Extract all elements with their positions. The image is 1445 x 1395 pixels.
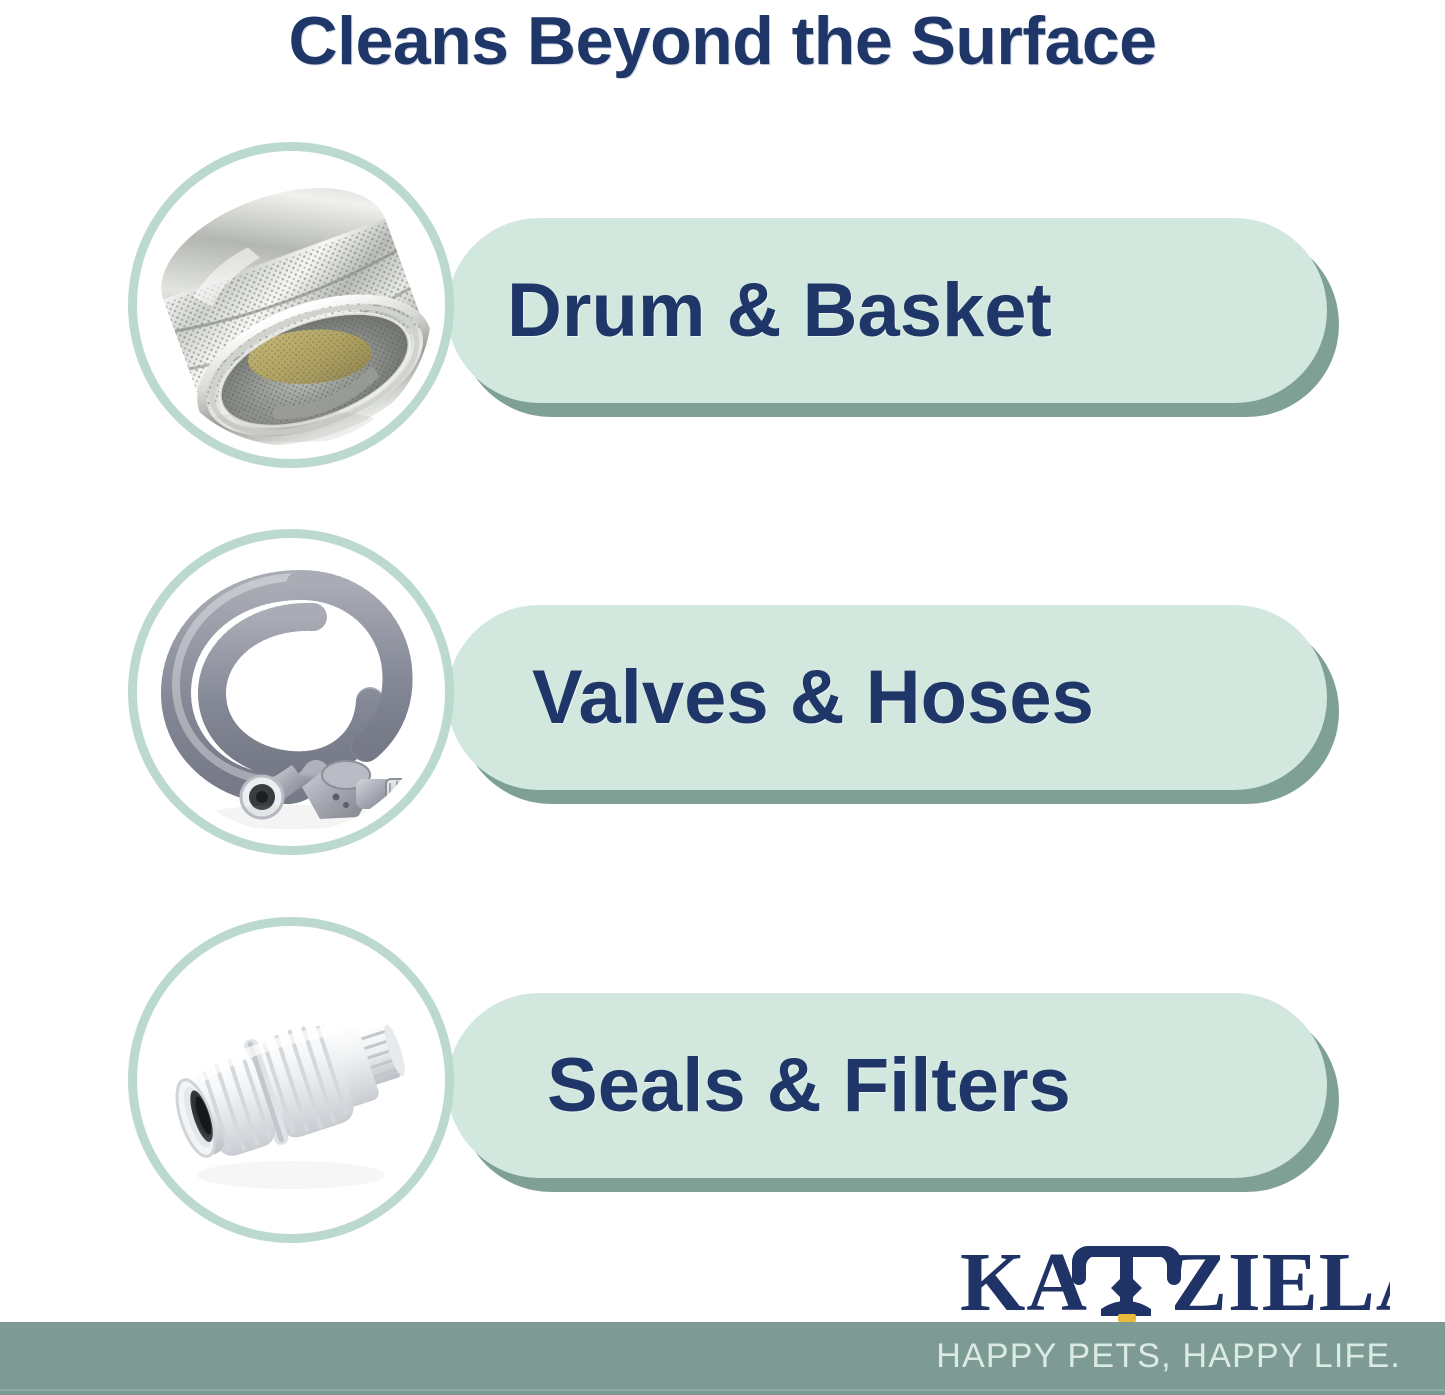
white-plastic-valve-filter-photo xyxy=(150,939,432,1221)
brand-logo: KA ZIELA xyxy=(960,1236,1390,1322)
dog-eye-left xyxy=(1101,1271,1114,1284)
dog-eye-right xyxy=(1140,1271,1153,1284)
gold-collar-tag xyxy=(1118,1314,1136,1322)
logo-letters-before: KA xyxy=(960,1236,1088,1322)
feature-label: Drum & Basket xyxy=(447,218,1327,403)
brand-tagline: HAPPY PETS, HAPPY LIFE. xyxy=(936,1336,1401,1376)
washing-machine-hose-photo xyxy=(150,551,432,833)
dog-face-letter-t xyxy=(1072,1246,1181,1316)
feature-row: Valves & Hoses xyxy=(0,527,1445,857)
logo-letters-after: ZIELA xyxy=(1171,1236,1390,1322)
page-title: Cleans Beyond the Surface xyxy=(0,2,1445,80)
feature-label: Seals & Filters xyxy=(447,993,1327,1178)
feature-row: Seals & Filters xyxy=(0,915,1445,1245)
feature-row: Drum & Basket xyxy=(0,140,1445,470)
feature-label: Valves & Hoses xyxy=(447,605,1327,790)
washing-machine-drum-photo xyxy=(150,164,432,446)
promo-canvas: Cleans Beyond the Surface Drum & Basket xyxy=(0,0,1445,1395)
